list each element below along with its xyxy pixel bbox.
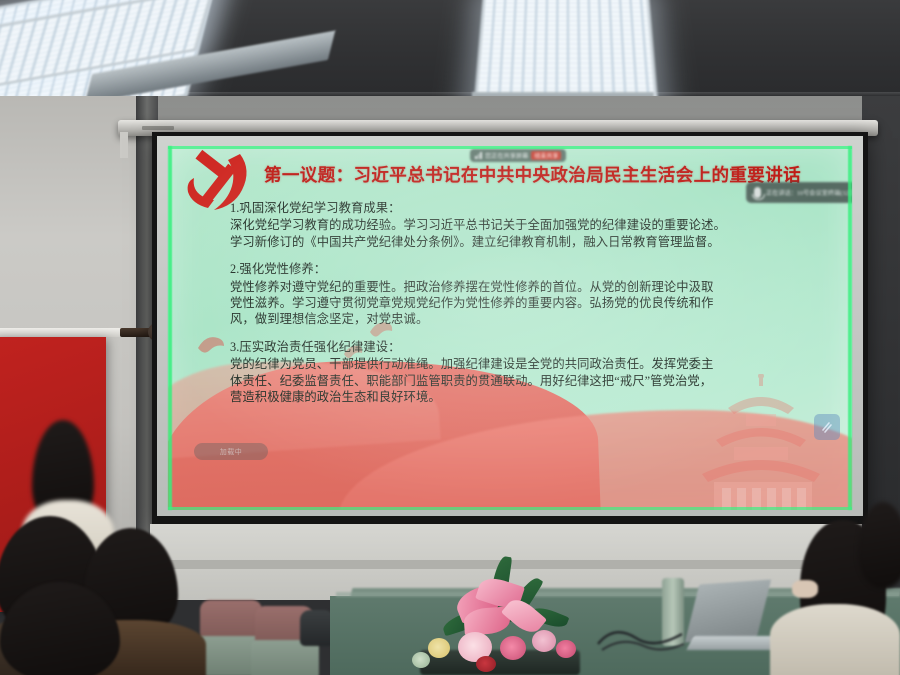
signal-bars-icon xyxy=(475,152,482,159)
floral-arrangement xyxy=(408,560,598,675)
stop-sharing-button[interactable]: 结束共享 xyxy=(531,151,561,160)
screen-share-toast[interactable]: 您正在共享屏幕 结束共享 xyxy=(470,149,566,162)
active-speaker-label: 正在讲话：10号会议室终端(32区) xyxy=(766,188,852,197)
roller-brand-mark xyxy=(142,126,174,130)
section-line: 党性滋养。学习遵守贯彻党章党规党纪作为党性修养的重要内容。弘扬党的优良传统和作 xyxy=(230,295,830,311)
microphone-icon xyxy=(754,187,761,198)
active-speaker-toast: 正在讲话：10号会议室终端(32区) xyxy=(746,182,852,203)
slide-corner-badge-label: 加载中 xyxy=(220,447,243,457)
section-line: 党性修养对遵守党纪的重要性。把政治修养摆在党性修养的首位。从党的创新理论中汲取 xyxy=(230,279,830,295)
presentation-slide: 加载中 第一议题：习近平总书记在中共中央政治局民主生活会上的重要讲话 1.巩固深… xyxy=(168,146,852,510)
attendee-coat-right xyxy=(770,604,900,675)
desk-cables xyxy=(596,616,686,656)
roller-bracket xyxy=(120,132,128,158)
section-line: 体责任、纪委监督责任、职能部门监管职责的贯通联动。用好纪律这把“戒尺”管党治党， xyxy=(230,373,830,389)
slide-corner-badge: 加载中 xyxy=(194,443,268,460)
slide-edge-glow-left xyxy=(168,146,172,510)
section-line: 学习新修订的《中国共产党纪律处分条例》。建立纪律教育机制，融入日常教育管理监督。 xyxy=(230,234,830,250)
section-line: 党的纪律为党员、干部提供行动准绳。加强纪律建设是全党的共同政治责任。发挥党委主 xyxy=(230,356,830,372)
section-heading: 2.强化党性修养： xyxy=(230,261,830,277)
section-line: 风，做到理想信念坚定，对党忠诚。 xyxy=(230,311,830,327)
section-line: 深化党纪学习教育的成功经验。学习习近平总书记关于全面加强党的纪律建设的重要论述。 xyxy=(230,217,830,233)
meeting-room-photo: 加载中 第一议题：习近平总书记在中共中央政治局民主生活会上的重要讲话 1.巩固深… xyxy=(0,0,900,675)
peace-dove-icon xyxy=(196,332,226,358)
slide-edge-glow-right xyxy=(848,146,852,510)
attendee-hand xyxy=(792,580,818,598)
section-line: 营造积极健康的政治生态和良好环境。 xyxy=(230,389,830,405)
section-heading: 3.压实政治责任强化纪律建设： xyxy=(230,339,830,355)
section-heading: 1.巩固深化党纪学习教育成果： xyxy=(230,200,830,216)
slide-body: 1.巩固深化党纪学习教育成果： 深化党纪学习教育的成功经验。学习习近平总书记关于… xyxy=(230,200,830,405)
screen-share-toast-label: 您正在共享屏幕 xyxy=(485,151,528,160)
slide-edge-glow-top xyxy=(168,146,852,149)
slide-edge-glow-bottom xyxy=(168,507,852,510)
share-screen-icon[interactable] xyxy=(814,414,840,440)
